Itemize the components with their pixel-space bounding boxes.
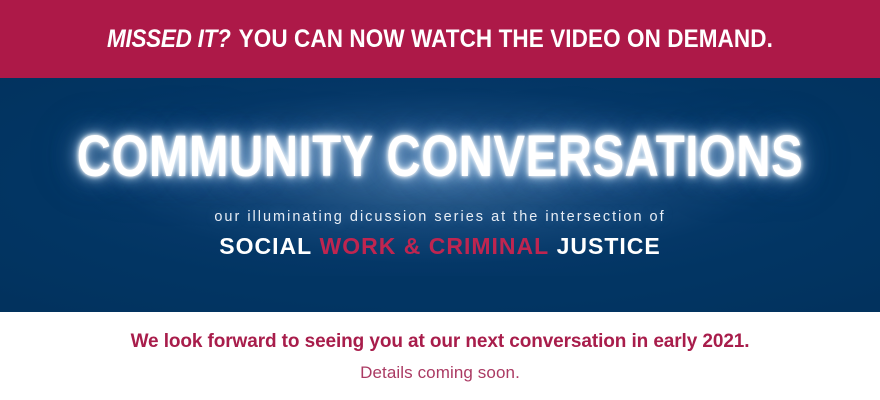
announcement-body: YOU CAN NOW WATCH THE VIDEO ON DEMAND. [239, 25, 773, 53]
focus-word-justice: JUSTICE [557, 233, 661, 259]
closing-details: Details coming soon. [360, 364, 520, 381]
promotional-banner: MISSED IT?YOU CAN NOW WATCH THE VIDEO ON… [0, 0, 880, 400]
hero-title: COMMUNITY CONVERSATIONS [77, 128, 803, 186]
hero-content: COMMUNITY CONVERSATIONS our illuminating… [0, 78, 880, 312]
closing-message: We look forward to seeing you at our nex… [131, 332, 750, 351]
announcement-band: MISSED IT?YOU CAN NOW WATCH THE VIDEO ON… [0, 0, 880, 78]
closing-band: We look forward to seeing you at our nex… [0, 312, 880, 400]
announcement-emphasis: MISSED IT? [107, 25, 231, 53]
focus-word-social: SOCIAL [219, 233, 312, 259]
announcement-text: MISSED IT?YOU CAN NOW WATCH THE VIDEO ON… [107, 27, 773, 52]
hero-band: COMMUNITY CONVERSATIONS our illuminating… [0, 78, 880, 312]
hero-subtitle: our illuminating dicussion series at the… [214, 210, 665, 225]
focus-word-work-criminal: WORK & CRIMINAL [320, 233, 550, 259]
hero-focus-line: SOCIAL WORK & CRIMINAL JUSTICE [219, 235, 660, 258]
